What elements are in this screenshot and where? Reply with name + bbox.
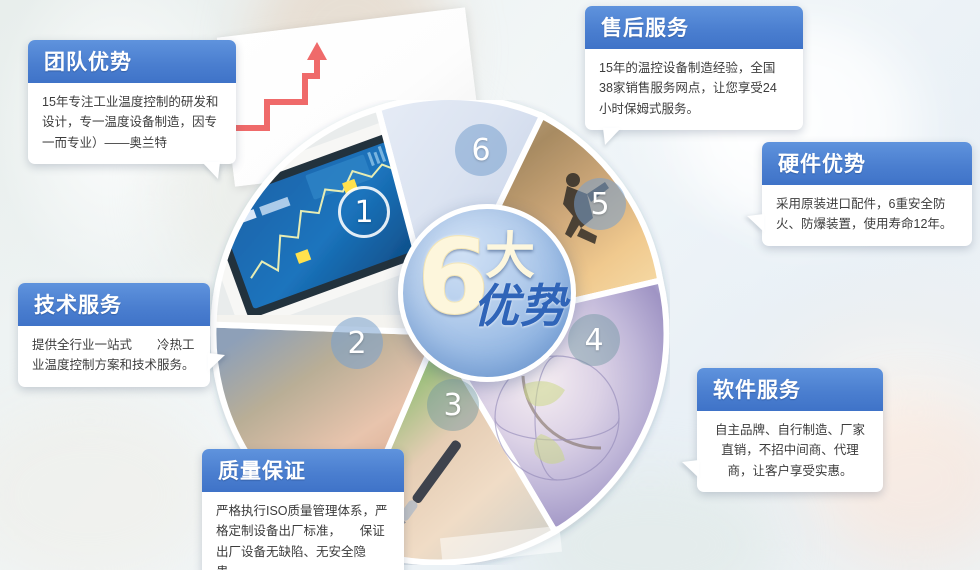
segment-marker-1-label: 1 bbox=[354, 195, 373, 230]
callout-title-software: 软件服务 bbox=[697, 368, 883, 411]
segment-marker-1[interactable]: 1 bbox=[338, 186, 390, 238]
segment-marker-3-label: 3 bbox=[443, 388, 462, 423]
advantages-infographic: 1 2 3 4 5 6 6 大 优势 团队优势 15年专注工业温度控制的研发和设… bbox=[0, 0, 980, 570]
center-badge: 6 大 优势 bbox=[398, 204, 576, 382]
callout-title-after-sales: 售后服务 bbox=[585, 6, 803, 49]
callout-card-tech-service[interactable]: 技术服务 提供全行业一站式 冷热工业温度控制方案和技术服务。 bbox=[18, 283, 210, 387]
background-blur-bottom-left bbox=[0, 400, 220, 570]
callout-card-hardware[interactable]: 硬件优势 采用原装进口配件，6重安全防火、防爆装置，使用寿命12年。 bbox=[762, 142, 972, 246]
center-unit: 大 bbox=[485, 231, 535, 281]
center-word: 优势 bbox=[473, 283, 567, 329]
callout-title-quality: 质量保证 bbox=[202, 449, 404, 492]
segment-marker-4[interactable]: 4 bbox=[568, 314, 620, 366]
segment-marker-5-label: 5 bbox=[590, 187, 609, 222]
callout-title-team: 团队优势 bbox=[28, 40, 236, 83]
segment-marker-6[interactable]: 6 bbox=[455, 124, 507, 176]
segment-marker-4-label: 4 bbox=[584, 323, 603, 358]
callout-tail-tech-service bbox=[208, 353, 225, 371]
callout-card-after-sales[interactable]: 售后服务 15年的温控设备制造经验，全国38家销售服务网点，让您享受24小时保姆… bbox=[585, 6, 803, 130]
callout-card-quality[interactable]: 质量保证 严格执行ISO质量管理体系，严格定制设备出厂标准， 保证出厂设备无缺陷… bbox=[202, 449, 404, 570]
callout-card-team[interactable]: 团队优势 15年专注工业温度控制的研发和设计，专一温度设备制造，因专一而专业）—… bbox=[28, 40, 236, 164]
segment-marker-2-label: 2 bbox=[347, 326, 366, 361]
callout-title-tech-service: 技术服务 bbox=[18, 283, 210, 326]
segment-marker-2[interactable]: 2 bbox=[331, 317, 383, 369]
callout-tail-hardware bbox=[747, 214, 764, 232]
callout-body-hardware: 采用原装进口配件，6重安全防火、防爆装置，使用寿命12年。 bbox=[762, 185, 972, 246]
segment-marker-6-label: 6 bbox=[471, 133, 490, 168]
callout-card-software[interactable]: 软件服务 自主品牌、自行制造、厂家直销，不招中间商、代理商，让客户享受实惠。 bbox=[697, 368, 883, 492]
callout-body-team: 15年专注工业温度控制的研发和设计，专一温度设备制造，因专一而专业）——奥兰特 bbox=[28, 83, 236, 164]
callout-body-tech-service: 提供全行业一站式 冷热工业温度控制方案和技术服务。 bbox=[18, 326, 210, 387]
callout-tail-after-sales bbox=[603, 128, 621, 145]
segment-marker-5[interactable]: 5 bbox=[574, 178, 626, 230]
callout-title-hardware: 硬件优势 bbox=[762, 142, 972, 185]
callout-body-software: 自主品牌、自行制造、厂家直销，不招中间商、代理商，让客户享受实惠。 bbox=[697, 411, 883, 492]
segment-marker-3[interactable]: 3 bbox=[427, 379, 479, 431]
callout-tail-team bbox=[202, 162, 220, 179]
callout-body-after-sales: 15年的温控设备制造经验，全国38家销售服务网点，让您享受24小时保姆式服务。 bbox=[585, 49, 803, 130]
callout-body-quality: 严格执行ISO质量管理体系，严格定制设备出厂标准， 保证出厂设备无缺陷、无安全隐… bbox=[202, 492, 404, 570]
callout-tail-software bbox=[682, 460, 699, 478]
